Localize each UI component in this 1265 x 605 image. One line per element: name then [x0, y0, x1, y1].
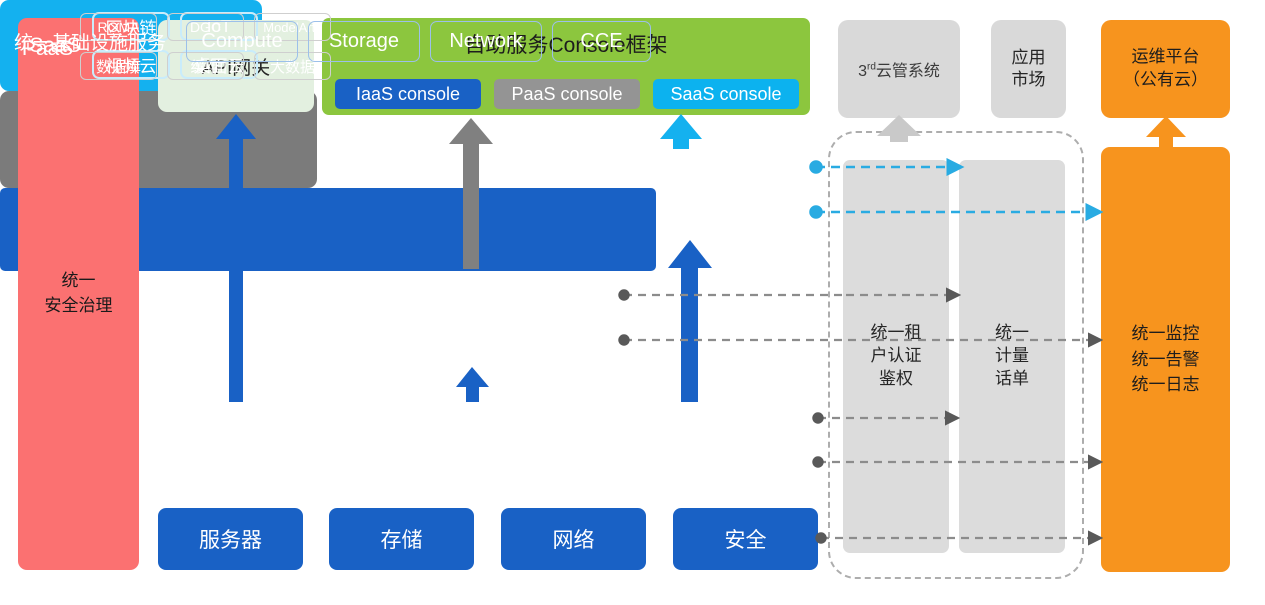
paas-console-chip[interactable]: PaaS console	[494, 79, 640, 109]
unified-metering-line2: 计量	[995, 345, 1029, 368]
resource-box-security[interactable]: 安全	[673, 508, 818, 570]
saas-console-chip[interactable]: SaaS console	[653, 79, 799, 109]
infra-service-network[interactable]: Network	[430, 21, 542, 62]
infra-service-compute[interactable]: Compute	[186, 21, 298, 62]
app-market-box: 应用 市场	[991, 20, 1066, 118]
ops-platform-line1: 运维平台	[1123, 46, 1208, 69]
security-governance-panel: 统一 安全治理	[18, 18, 139, 570]
unified-monitoring-panel: 统一监控 统一告警 统一日志	[1101, 147, 1230, 572]
unified-metering-billing-column: 统一 计量 话单	[959, 160, 1065, 553]
iaas-console-chip[interactable]: IaaS console	[335, 79, 481, 109]
resource-box-server[interactable]: 服务器	[158, 508, 303, 570]
infra-service-cce[interactable]: CCE	[552, 21, 651, 62]
resource-box-network[interactable]: 网络	[501, 508, 646, 570]
arrow-saas-to-console	[660, 114, 702, 149]
arrow-ops-panel-to-ops-platform	[1146, 116, 1186, 148]
app-market-line2: 市场	[1012, 69, 1046, 91]
third-party-cloud-management-box: 3rd云管系统	[838, 20, 960, 118]
security-governance-line1: 统一	[45, 269, 113, 294]
ops-platform-public-cloud-box: 运维平台 （公有云）	[1101, 20, 1230, 118]
arrow-infra-to-saas	[668, 240, 712, 402]
unified-tenant-auth-line3: 鉴权	[871, 368, 922, 391]
app-market-line1: 应用	[1012, 47, 1046, 69]
unified-monitoring-line2: 统一告警	[1132, 347, 1200, 373]
unified-monitoring-line1: 统一监控	[1132, 321, 1200, 347]
unified-monitoring-line3: 统一日志	[1132, 372, 1200, 398]
unified-tenant-auth-line2: 户认证	[871, 345, 922, 368]
ops-platform-line2: （公有云）	[1123, 69, 1208, 92]
unified-metering-line1: 统一	[995, 322, 1029, 345]
third-party-cloud-label: 3rd云管系统	[858, 57, 940, 81]
security-governance-line2: 安全治理	[45, 294, 113, 319]
arrow-infra-to-paas	[456, 367, 489, 402]
unified-tenant-auth-column: 统一租 户认证 鉴权	[843, 160, 949, 553]
resource-box-storage[interactable]: 存储	[329, 508, 474, 570]
unified-tenant-auth-line1: 统一租	[871, 322, 922, 345]
unified-metering-line3: 话单	[995, 368, 1029, 391]
unified-infrastructure-label: 统一基础设施服务	[14, 0, 166, 83]
architecture-diagram: 统一 安全治理 API网关 自助服务Console框架 IaaS console…	[0, 0, 1265, 605]
infra-service-storage[interactable]: Storage	[308, 21, 420, 62]
